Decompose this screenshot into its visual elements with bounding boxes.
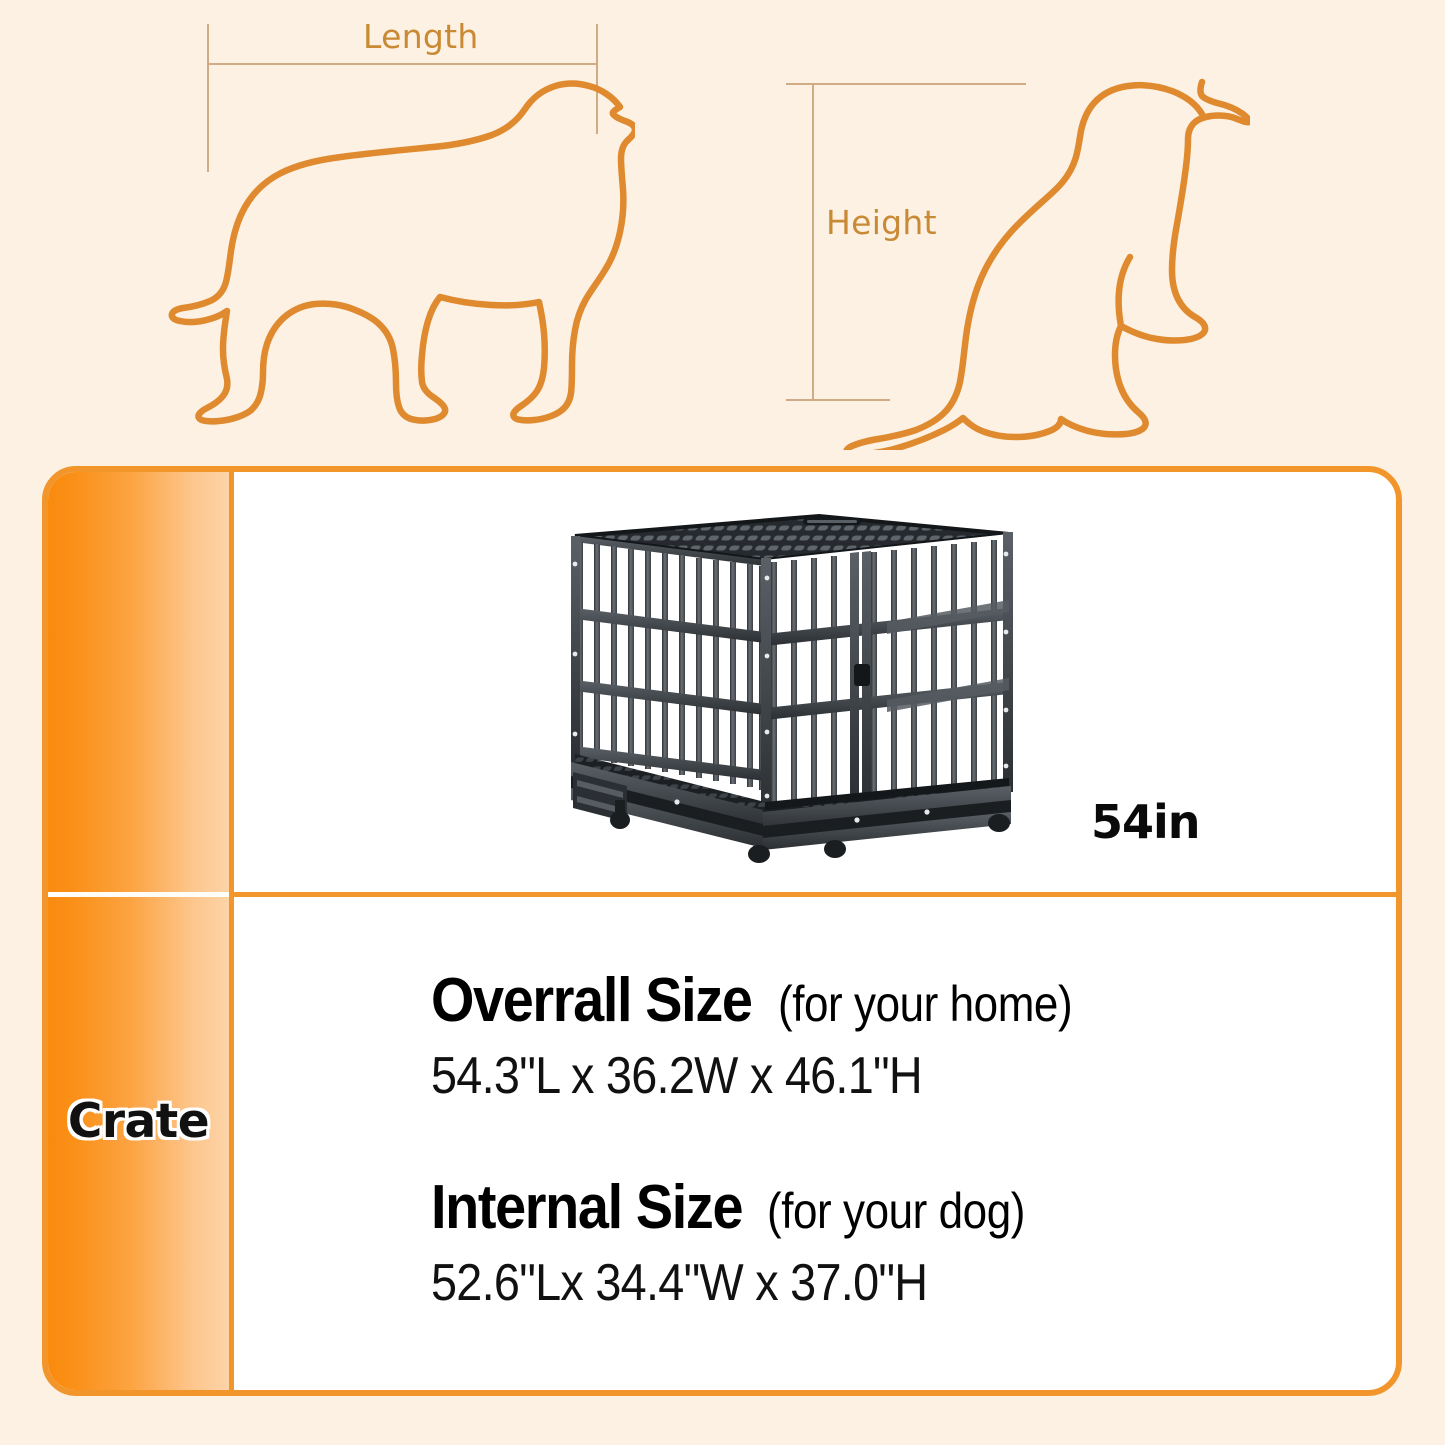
dog-standing-silhouette-icon [165,55,635,425]
overall-size-block: Overrall Size (for your home) 54.3"L x 3… [431,970,1112,1106]
internal-size-block: Internal Size (for your dog) 52.6"Lx 34.… [431,1177,1060,1313]
spec-table-panel: Crate Size [42,466,1402,1396]
internal-size-heading-line: Internal Size (for your dog) [431,1177,1060,1239]
overall-size-heading: Overrall Size [431,970,752,1032]
spec-table-sidebar [48,472,234,1390]
height-dimension-line [812,83,814,401]
overall-size-dimensions: 54.3"L x 36.2W x 46.1"H [431,1046,1044,1106]
content-row-divider [234,892,1402,897]
length-label: Length [363,17,479,56]
overall-size-note: (for your home) [778,979,1072,1029]
infographic-page: Length Height Crate Size [0,0,1445,1445]
heavy-duty-dog-crate-image [557,504,1027,864]
crate-row-content: 54in [239,472,1402,892]
dog-sitting-silhouette-icon [840,60,1250,450]
sidebar-row-divider [48,892,229,897]
internal-size-dimensions: 52.6"Lx 34.4"W x 37.0"H [431,1253,997,1313]
overall-size-heading-line: Overrall Size (for your home) [431,970,1112,1032]
crate-width-callout: 54in [1091,795,1200,849]
internal-size-heading: Internal Size [431,1177,742,1239]
size-row-content: Overrall Size (for your home) 54.3"L x 3… [239,897,1402,1396]
internal-size-note: (for your dog) [767,1186,1025,1236]
dog-measurement-diagram: Length Height [0,0,1445,465]
row-label-crate: Crate [48,1094,229,1149]
